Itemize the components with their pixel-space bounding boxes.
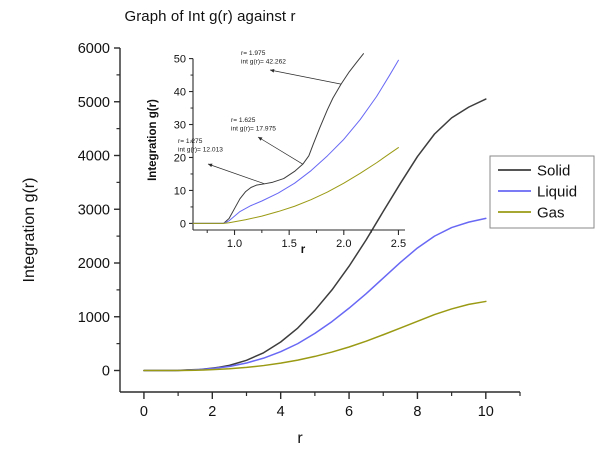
inset-y-tick-label: 30: [174, 120, 186, 132]
legend-label-liquid: Liquid: [537, 184, 577, 201]
inset-series-line-liquid: [193, 60, 398, 223]
inset-x-tick-label: 1.0: [227, 238, 242, 250]
legend-label-gas: Gas: [537, 205, 565, 222]
main-plot: 0100020003000400050006000 0246810 Integr…: [21, 41, 520, 447]
chart-figure: Graph of Int g(r) against r 010002000300…: [0, 0, 600, 459]
annotation-r-1275-leader-line: [208, 164, 265, 184]
main-x-tick-label: 8: [413, 404, 421, 420]
inset-x-tick-label: 2.0: [336, 238, 351, 250]
legend[interactable]: SolidLiquidGas: [490, 156, 594, 228]
inset-y-tick-label: 20: [174, 152, 186, 164]
main-y-axis-title: Integration g(r): [21, 178, 38, 283]
annotation-r-1625-arrow-head: [258, 137, 262, 141]
inset-plot: 01020304050 1.01.52.02.5 r= 1.975int g(r…: [147, 50, 406, 256]
annotation-r-1625-leader-line: [258, 137, 303, 164]
main-y-tick-label: 1000: [78, 310, 110, 326]
main-series-line-liquid: [144, 218, 486, 370]
main-x-axis: 0246810: [120, 392, 520, 420]
main-y-tick-label: 6000: [78, 41, 110, 57]
inset-x-tick-label: 2.5: [391, 238, 406, 250]
legend-label-solid: Solid: [537, 163, 570, 180]
annotation-r-1625: r= 1.625int g(r)= 17.975: [231, 117, 303, 164]
annotation-r-1625-line2: int g(r)= 17.975: [231, 126, 276, 133]
inset-x-axis: 1.01.52.02.5: [193, 230, 406, 250]
main-y-tick-label: 5000: [78, 95, 110, 111]
annotation-r-1975-line1: r= 1.975: [241, 50, 266, 57]
main-x-tick-label: 2: [208, 404, 216, 420]
inset-y-tick-label: 50: [174, 54, 186, 66]
inset-x-axis-title: r: [301, 244, 306, 256]
main-y-axis: 0100020003000400050006000: [78, 41, 120, 392]
annotation-r-1275-line2: int g(r)= 12.013: [178, 147, 223, 154]
annotation-r-1975-line2: int g(r)= 42.262: [241, 59, 286, 66]
chart-canvas: 0100020003000400050006000 0246810 Integr…: [0, 0, 600, 459]
inset-annotations-group: r= 1.975int g(r)= 42.262r= 1.625int g(r)…: [178, 50, 341, 184]
main-x-axis-title: r: [297, 430, 303, 447]
main-y-tick-label: 4000: [78, 149, 110, 165]
chart-title: Graph of Int g(r) against r: [0, 8, 420, 25]
inset-y-tick-label: 0: [180, 218, 186, 230]
main-x-tick-label: 0: [140, 404, 148, 420]
main-x-tick-label: 6: [345, 404, 353, 420]
main-y-tick-label: 0: [102, 364, 110, 380]
inset-y-tick-label: 40: [174, 87, 186, 99]
main-y-tick-label: 3000: [78, 202, 110, 218]
main-x-tick-label: 4: [277, 404, 285, 420]
inset-y-tick-label: 10: [174, 185, 186, 197]
annotation-r-1975-arrow-head: [270, 69, 274, 73]
annotation-r-1625-line1: r= 1.625: [231, 117, 256, 124]
inset-x-tick-label: 1.5: [282, 238, 297, 250]
inset-y-axis-title: Integration g(r): [147, 99, 159, 181]
annotation-r-1275: r= 1.275int g(r)= 12.013: [178, 138, 265, 184]
main-y-tick-label: 2000: [78, 256, 110, 272]
annotation-r-1275-line1: r= 1.275: [178, 138, 203, 145]
inset-series-line-solid: [193, 54, 363, 224]
main-x-tick-label: 10: [478, 404, 494, 420]
annotation-r-1275-arrow-head: [208, 164, 212, 167]
annotation-r-1975-leader-line: [270, 70, 341, 84]
main-series-line-gas: [144, 301, 486, 370]
inset-series-line-gas: [193, 148, 398, 224]
inset-series-group: [193, 54, 398, 224]
annotation-r-1975: r= 1.975int g(r)= 42.262: [241, 50, 341, 84]
